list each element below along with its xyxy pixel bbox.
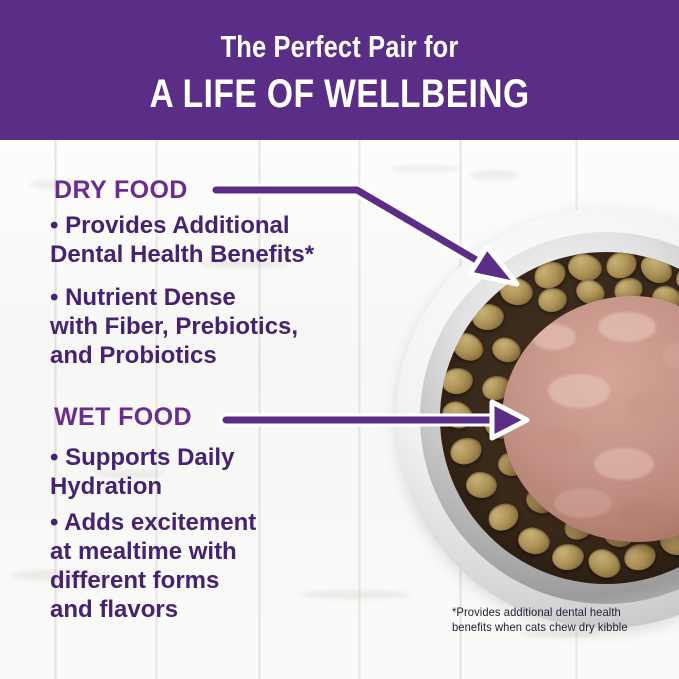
wood-grain-mark — [390, 165, 460, 172]
header-title-line2: A LIFE OF WELLBEING — [54, 72, 624, 117]
wet-food-texture — [548, 374, 610, 408]
wet-food-texture — [598, 312, 656, 342]
infographic-page: The Perfect Pair for A LIFE OF WELLBEING — [0, 0, 679, 679]
kibble-piece — [471, 303, 505, 331]
dry-food-bullet-2: • Nutrient Dense with Fiber, Prebiotics,… — [50, 283, 380, 370]
wood-grain-mark — [470, 170, 520, 180]
wet-food-bullet-1: • Supports Daily Hydration — [50, 443, 380, 501]
wet-food-bullet-2: • Adds excitement at mealtime with diffe… — [50, 508, 380, 624]
pet-food-bowl — [396, 208, 679, 628]
wet-food-heading: WET FOOD — [54, 403, 192, 432]
kibble-piece — [447, 434, 485, 469]
kibble-piece — [536, 286, 568, 314]
wet-food-texture — [594, 448, 654, 480]
wet-food-texture — [620, 502, 668, 528]
wet-food-texture — [662, 342, 679, 370]
wet-food-texture — [554, 488, 612, 518]
dry-food-bullet-1: • Provides Additional Dental Health Bene… — [50, 211, 380, 269]
kibble-piece — [584, 544, 626, 583]
kibble-piece — [465, 470, 499, 499]
kibble-piece — [440, 397, 477, 433]
dry-food-heading: DRY FOOD — [54, 176, 188, 205]
kibble-piece — [515, 524, 553, 558]
kibble-piece — [484, 498, 524, 536]
wet-food-texture — [530, 428, 582, 456]
wet-food-texture — [626, 392, 679, 422]
wet-food-texture — [660, 472, 679, 500]
wet-food-texture — [532, 324, 576, 350]
footnote-disclaimer: *Provides additional dental health benef… — [452, 605, 657, 635]
kibble-piece — [551, 542, 586, 571]
header-title-line1: The Perfect Pair for — [61, 29, 618, 65]
header-band: The Perfect Pair for A LIFE OF WELLBEING — [0, 0, 679, 140]
